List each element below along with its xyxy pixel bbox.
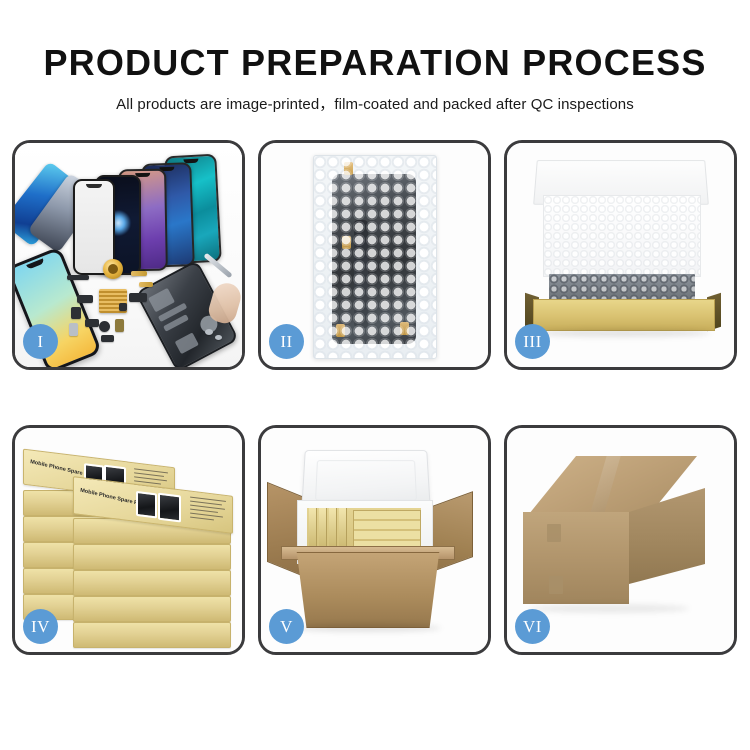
box-spec-lines	[190, 497, 228, 526]
small-part-icon	[131, 271, 147, 276]
stacked-box-icon	[73, 596, 231, 622]
box-window-icon	[158, 493, 181, 523]
small-part-icon	[115, 319, 124, 332]
stacked-box-icon	[73, 622, 231, 648]
small-part-icon	[205, 329, 213, 335]
small-part-icon	[85, 319, 99, 327]
panel-6-image: VI	[507, 428, 734, 652]
panel-step-2: II	[258, 140, 491, 370]
bubble-wrap-bag-icon	[313, 155, 437, 359]
small-part-icon	[71, 307, 81, 319]
panel-1-image: I	[15, 143, 242, 367]
step-badge-4: IV	[23, 609, 58, 644]
panel-step-3: III	[504, 140, 737, 370]
small-part-icon	[69, 323, 78, 336]
product-preparation-infographic: PRODUCT PREPARATION PROCESS All products…	[0, 0, 750, 750]
page-subtitle: All products are image-printed，film-coat…	[0, 81, 750, 114]
header: PRODUCT PREPARATION PROCESS All products…	[0, 0, 750, 114]
stacked-box-icon	[73, 570, 231, 596]
panel-step-6: VI	[504, 425, 737, 655]
step-badge-1: I	[23, 324, 58, 359]
drop-shadow	[535, 329, 711, 337]
panel-3-image: III	[507, 143, 734, 367]
gold-coil-part-icon	[103, 259, 123, 279]
box-window-icon	[136, 491, 157, 519]
panel-step-1: I	[12, 140, 245, 370]
small-part-icon	[99, 321, 110, 332]
small-part-icon	[119, 303, 127, 311]
kraft-box-tray-icon	[533, 299, 715, 331]
panel-5-image: V	[261, 428, 488, 652]
carton-front-icon	[287, 552, 449, 628]
small-part-icon	[129, 293, 147, 302]
foam-sheet-icon	[543, 195, 701, 277]
tape-icon	[342, 236, 351, 249]
step-badge-2: II	[269, 324, 304, 359]
page-title: PRODUCT PREPARATION PROCESS	[0, 0, 750, 81]
carton-tape-icon	[549, 576, 563, 594]
panel-step-4: Mobile Phone Spare Parts Mobile Phone Sp…	[12, 425, 245, 655]
process-steps-grid: I II	[12, 140, 738, 680]
small-part-icon	[101, 335, 114, 342]
stacked-box-icon	[73, 544, 231, 570]
small-part-icon	[77, 295, 93, 303]
small-part-icon	[139, 282, 153, 287]
carton-face-icon	[523, 512, 629, 604]
tape-icon	[344, 162, 353, 175]
step-badge-6: VI	[515, 609, 550, 644]
panel-step-5: V	[258, 425, 491, 655]
small-part-icon	[215, 335, 222, 340]
drop-shadow	[295, 624, 441, 632]
carton-tape-icon	[547, 524, 561, 542]
panel-4-image: Mobile Phone Spare Parts Mobile Phone Sp…	[15, 428, 242, 652]
step-badge-3: III	[515, 324, 550, 359]
drop-shadow	[529, 604, 689, 613]
small-part-icon	[67, 275, 89, 280]
tape-icon	[336, 324, 345, 337]
panel-2-image: II	[261, 143, 488, 367]
tape-icon	[400, 322, 409, 335]
wrapped-phone-part-icon	[332, 174, 416, 344]
step-badge-5: V	[269, 609, 304, 644]
